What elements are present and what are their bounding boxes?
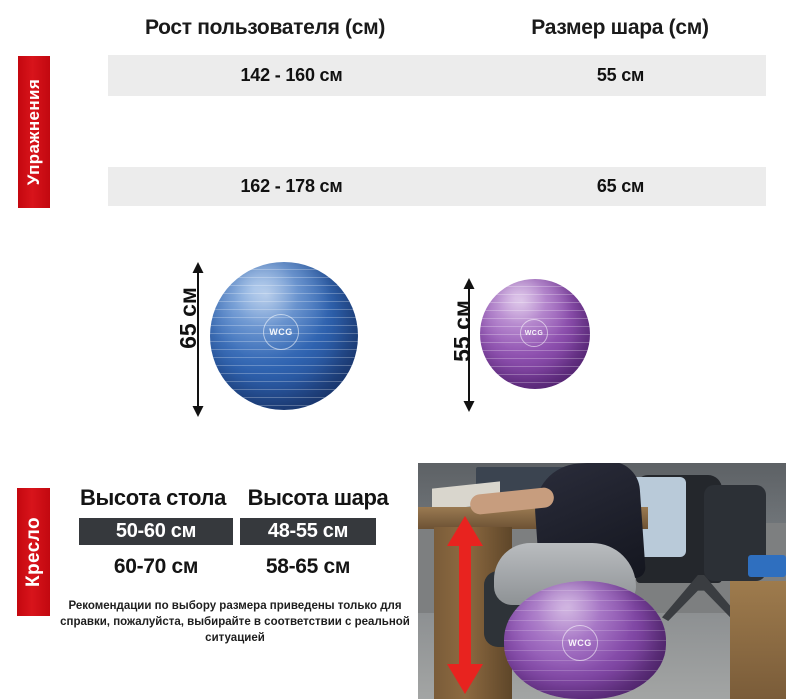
side-tab-chair: Кресло [17,488,50,616]
header-user-height: Рост пользователя (см) [55,8,475,48]
value-ball-height: 58-65 см [240,553,376,581]
cell-user-height: 142 - 160 см [108,55,475,96]
side-tab-exercises-label: Упражнения [24,79,44,185]
table-row: 142 - 160 см 55 см [108,55,766,96]
wcg-logo-icon: WCG [520,319,548,347]
wcg-logo-icon: WCG [562,625,598,661]
value-ball-height-highlighted: 48-55 см [240,518,376,545]
cell-user-height: 162 - 178 см [108,167,475,206]
exercise-table-header: Рост пользователя (см) Размер шара (см) [0,8,786,48]
disclaimer-text: Рекомендации по выбору размера приведены… [52,598,418,646]
photo-exercise-ball: WCG [504,581,666,699]
dimension-label-65cm: 65 см [175,280,201,356]
wcg-logo-icon: WCG [263,314,299,350]
table-row: 162 - 178 см 65 см [108,167,766,206]
side-tab-exercises: Упражнения [18,56,50,208]
side-tab-chair-label: Кресло [23,517,45,587]
photo-blue-object [748,555,786,577]
dimension-label-55cm: 55 см [449,293,475,369]
value-table-height: 60-70 см [79,553,233,581]
header-ball-height: Высота шара [238,483,398,513]
header-ball-size: Размер шара (см) [475,8,765,48]
value-table-height-highlighted: 50-60 см [79,518,233,545]
exercise-ball-blue: WCG [210,262,358,410]
cell-ball-size: 55 см [475,55,766,96]
height-arrow-icon [447,516,483,694]
photo-side-counter [730,581,786,699]
header-table-height: Высота стола [73,483,233,513]
cell-ball-size: 65 см [475,167,766,206]
size-chart-infographic: Рост пользователя (см) Размер шара (см) … [0,0,786,699]
exercise-ball-purple: WCG [480,279,590,389]
